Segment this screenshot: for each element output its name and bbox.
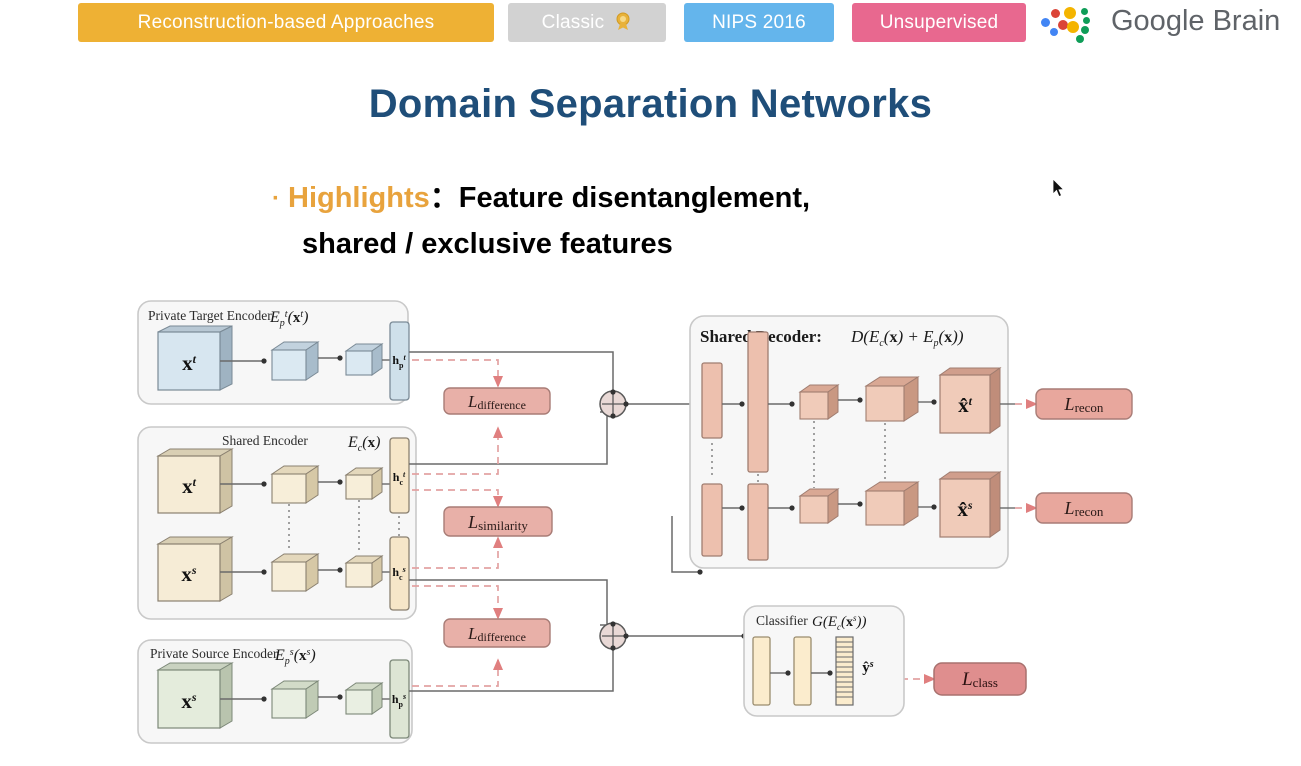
- bullet-marker-icon: ·: [272, 185, 280, 212]
- conv-cube-1-private-source: [272, 681, 318, 718]
- badge-reconstruction-based-approaches[interactable]: Reconstruction-based Approaches: [78, 3, 494, 42]
- hidden-vector-h-c-t: hct: [390, 438, 409, 513]
- group-label-private-source-encoder: Private Source Encoder: [150, 646, 278, 661]
- highlights-text-line1: Feature disentanglement,: [459, 182, 810, 214]
- conv-cube-1-shared-bottom: [272, 554, 318, 591]
- highlights-separator: ：: [430, 182, 459, 214]
- output-xhat-t: x̂t: [940, 368, 1000, 433]
- decoder-fc-bar-1-top: [702, 363, 722, 438]
- group-shared-encoder: Shared Encoder Ec(x) xt hct: [138, 427, 416, 619]
- hidden-vector-h-p-t: hpt: [390, 322, 409, 400]
- group-classifier: Classifier G(Ec(xs)) ŷs: [744, 606, 904, 716]
- badge-classic[interactable]: Classic: [508, 3, 666, 42]
- decoder-fc-bar-2-top: [748, 332, 768, 472]
- highlights-bullet: ·Highlights：Feature disentanglement, sha…: [272, 176, 1032, 267]
- loss-difference-bottom: Ldifference: [444, 619, 550, 647]
- badge-label: Reconstruction-based Approaches: [138, 12, 435, 34]
- loss-difference-top: Ldifference: [444, 388, 550, 414]
- loss-similarity: Lsimilarity: [444, 507, 552, 536]
- bullet-line-1: ·Highlights：Feature disentanglement,: [272, 176, 1032, 221]
- group-shared-decoder: Shared Decoder: D(Ec(x) + Ep(x)) x̂t: [690, 316, 1008, 568]
- group-private-source-encoder: Private Source Encoder Eps(xs) xs hps: [138, 640, 412, 743]
- group-formula-shared-decoder: D(Ec(x) + Ep(x)): [850, 327, 964, 349]
- badge-nips-2016[interactable]: NIPS 2016: [684, 3, 834, 42]
- hidden-vector-h-p-s: hps: [390, 660, 409, 738]
- decoder-cube-2-top: [866, 377, 918, 421]
- google-brain-dots-icon: [1041, 4, 1103, 44]
- input-xt-shared: xt: [158, 449, 232, 513]
- decoder-fc-bar-2-bottom: [748, 484, 768, 560]
- sum-node-bottom: [600, 621, 629, 650]
- conv-cube-1-shared-top: [272, 466, 318, 503]
- decoder-fc-bar-1-bottom: [702, 484, 722, 556]
- loss-class: Lclass: [934, 663, 1026, 695]
- group-private-target-encoder: Private Target Encoder Ept(xt) xt: [138, 301, 409, 404]
- sum-node-top: [600, 389, 629, 418]
- classifier-fc-bar-2: [794, 637, 811, 705]
- input-xs-shared: xs: [158, 537, 232, 601]
- group-label-shared-encoder: Shared Encoder: [222, 433, 308, 448]
- classifier-fc-bar-1: [753, 637, 770, 705]
- conv-cube-1-private-target: [272, 342, 318, 380]
- decoder-cube-1-top: [800, 385, 838, 419]
- input-xt-private: xt: [158, 326, 232, 390]
- decoder-cube-2-bottom: [866, 482, 918, 525]
- medal-icon: [614, 12, 632, 34]
- conv-cube-2-shared-bottom: [346, 556, 382, 587]
- badge-label: Unsupervised: [880, 12, 999, 34]
- group-label-classifier: Classifier: [756, 613, 808, 628]
- badge-label: Classic: [542, 12, 605, 34]
- conv-cube-2-shared-top: [346, 468, 382, 499]
- conv-cube-2-private-source: [346, 683, 382, 714]
- hidden-vector-h-c-s: hcs: [390, 537, 409, 610]
- loss-recon-top: Lrecon: [1036, 389, 1132, 419]
- google-brain-logo: Google Brain: [1041, 4, 1291, 44]
- loss-recon-bottom: Lrecon: [1036, 493, 1132, 523]
- badge-label: NIPS 2016: [712, 12, 806, 34]
- domain-separation-networks-diagram: Private Target Encoder Ept(xt) xt: [0, 288, 1301, 766]
- output-xhat-s: x̂s: [940, 472, 1000, 537]
- decoder-cube-1-bottom: [800, 489, 838, 523]
- mouse-cursor: [1052, 178, 1066, 198]
- highlights-text-line2: shared / exclusive features: [302, 221, 1032, 267]
- badge-bar: Reconstruction-based Approaches Classic …: [0, 0, 1301, 48]
- input-xs-private: xs: [158, 663, 232, 728]
- conv-cube-2-private-target: [346, 344, 382, 375]
- group-label-private-target-encoder: Private Target Encoder: [148, 308, 272, 323]
- highlights-label: Highlights: [288, 182, 430, 214]
- badge-unsupervised[interactable]: Unsupervised: [852, 3, 1026, 42]
- google-brain-wordmark: Google Brain: [1111, 5, 1280, 38]
- page-title: Domain Separation Networks: [0, 82, 1301, 127]
